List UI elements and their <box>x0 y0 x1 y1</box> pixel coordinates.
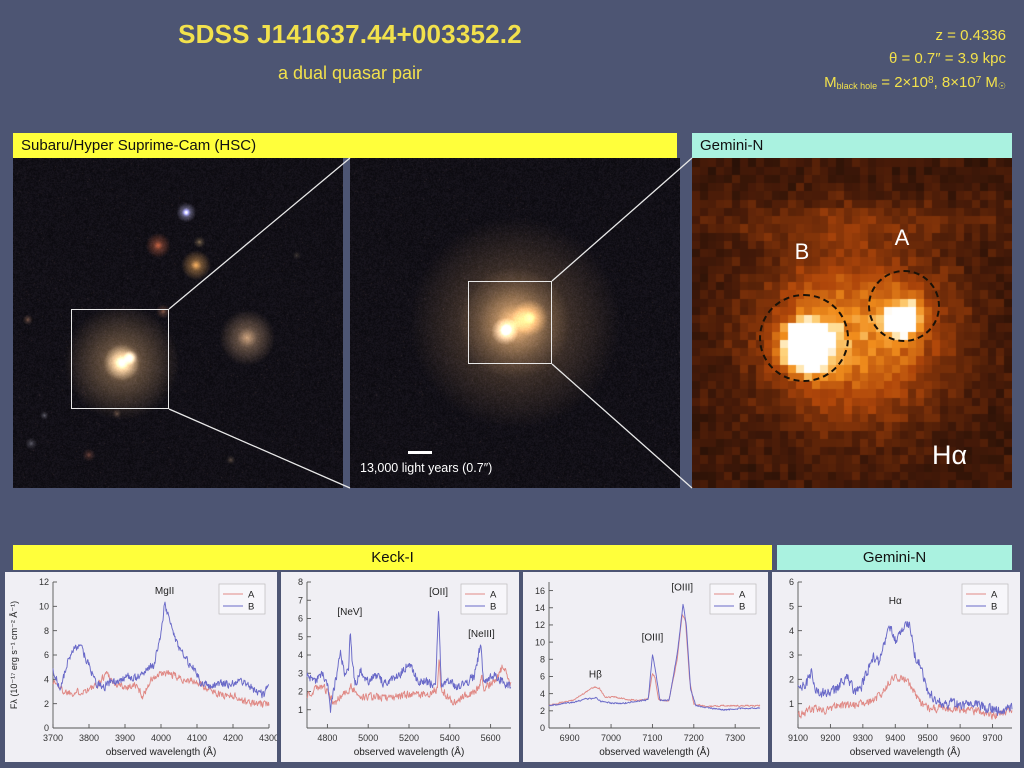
spectrum-plot: 690070007100720073000246810121416[OIII][… <box>523 572 768 762</box>
x-tick-label: 5000 <box>358 733 378 743</box>
x-axis-label: observed wavelength (Å) <box>354 745 465 758</box>
y-tick-label: 8 <box>298 577 303 587</box>
y-tick-label: 16 <box>535 586 545 596</box>
y-tick-label: 14 <box>535 603 545 613</box>
y-tick-label: 2 <box>789 675 794 685</box>
mass-unit: M <box>981 74 998 91</box>
y-tick-label: 12 <box>39 577 49 587</box>
spectrum-panel-hbeta-oiii: 690070007100720073000246810121416[OIII][… <box>523 572 768 762</box>
legend-label-a: A <box>739 589 746 600</box>
zoom-region-box-inner <box>468 281 552 364</box>
x-tick-label: 3900 <box>115 733 135 743</box>
x-tick-label: 4200 <box>223 733 243 743</box>
x-tick-label: 5400 <box>440 733 460 743</box>
zoom-region-box <box>71 309 169 409</box>
object-properties: z = 0.4336 θ = 0.7″ = 3.9 kpc Mblack hol… <box>824 24 1006 94</box>
banner-hsc: Subaru/Hyper Suprime-Cam (HSC) <box>13 133 677 158</box>
y-tick-label: 6 <box>298 614 303 624</box>
page-subtitle: a dual quasar pair <box>0 63 700 84</box>
y-tick-label: 2 <box>298 687 303 697</box>
source-label-a: A <box>895 225 910 251</box>
y-tick-label: 12 <box>535 620 545 630</box>
black-hole-mass-value: Mblack hole = 2×108, 8×107 M☉ <box>824 71 1006 94</box>
emission-line-annotation: [OIII] <box>671 583 693 594</box>
y-tick-label: 4 <box>44 675 49 685</box>
y-tick-label: 4 <box>298 650 303 660</box>
legend-label-a: A <box>490 589 497 600</box>
x-tick-label: 6900 <box>560 733 580 743</box>
title-block: SDSS J141637.44+003352.2 a dual quasar p… <box>0 20 700 84</box>
x-tick-label: 4300 <box>259 733 277 743</box>
hsc-zoom-image: 13,000 light years (0.7″) <box>350 158 680 488</box>
y-tick-label: 6 <box>540 672 545 682</box>
redshift-value: z = 0.4336 <box>824 24 1006 47</box>
x-tick-label: 4100 <box>187 733 207 743</box>
emission-line-annotation: Hβ <box>589 669 602 680</box>
hsc-wide-field-image <box>13 158 343 488</box>
gemini-canvas <box>692 158 1012 488</box>
mass-middle: , 8×10 <box>934 74 976 91</box>
hscwide-canvas <box>13 158 343 488</box>
y-tick-label: 8 <box>44 626 49 636</box>
legend-label-a: A <box>248 589 255 600</box>
y-tick-label: 0 <box>44 723 49 733</box>
y-tick-label: 4 <box>789 626 794 636</box>
emission-line-label-ha: Hα <box>932 440 967 471</box>
legend-box <box>219 584 265 614</box>
x-tick-label: 9600 <box>950 733 970 743</box>
x-tick-label: 3700 <box>43 733 63 743</box>
y-tick-label: 7 <box>298 595 303 605</box>
scale-bar-label: 13,000 light years (0.7″) <box>360 461 492 475</box>
y-tick-label: 0 <box>540 723 545 733</box>
x-tick-label: 3800 <box>79 733 99 743</box>
mass-symbol: M <box>824 74 837 91</box>
banner-gemini-spectra: Gemini-N <box>777 545 1012 570</box>
legend-box <box>461 584 507 614</box>
y-tick-label: 6 <box>789 577 794 587</box>
x-tick-label: 9700 <box>983 733 1003 743</box>
legend-label-b: B <box>248 601 254 612</box>
emission-line-annotation: [OII] <box>429 587 448 598</box>
y-tick-label: 1 <box>789 699 794 709</box>
legend-label-b: B <box>739 601 745 612</box>
spectrum-plot: 4800500052005400560012345678[NeV][OII][N… <box>281 572 519 762</box>
legend-label-b: B <box>490 601 496 612</box>
x-tick-label: 5600 <box>481 733 501 743</box>
legend-label-b: B <box>991 601 997 612</box>
legend-box <box>710 584 756 614</box>
aperture-circle-b <box>759 294 849 382</box>
x-axis-label: observed wavelength (Å) <box>106 745 217 758</box>
x-axis-label: observed wavelength (Å) <box>850 745 961 758</box>
spectrum-panel-mgii: 3700380039004000410042004300024681012MgI… <box>5 572 277 762</box>
y-tick-label: 6 <box>44 650 49 660</box>
x-tick-label: 4000 <box>151 733 171 743</box>
legend-label-a: A <box>991 589 998 600</box>
x-tick-label: 9300 <box>853 733 873 743</box>
y-tick-label: 3 <box>298 668 303 678</box>
x-tick-label: 9100 <box>788 733 808 743</box>
y-tick-label: 5 <box>789 602 794 612</box>
y-tick-label: 8 <box>540 654 545 664</box>
separation-value: θ = 0.7″ = 3.9 kpc <box>824 47 1006 70</box>
banner-gemini-image: Gemini-N <box>692 133 1012 158</box>
solar-mass-icon: ☉ <box>998 81 1006 91</box>
y-axis-label: Fλ (10⁻¹⁷ erg s⁻¹ cm⁻² Å⁻¹) <box>9 601 19 709</box>
page-title: SDSS J141637.44+003352.2 <box>0 20 700 49</box>
y-tick-label: 10 <box>535 637 545 647</box>
x-tick-label: 5200 <box>399 733 419 743</box>
y-tick-label: 2 <box>44 699 49 709</box>
banner-keck-spectra: Keck-I <box>13 545 772 570</box>
gemini-halpha-image: ABHα <box>692 158 1012 488</box>
y-tick-label: 5 <box>298 632 303 642</box>
spectrum-plot: 3700380039004000410042004300024681012MgI… <box>5 572 277 762</box>
x-tick-label: 7300 <box>725 733 745 743</box>
x-tick-label: 9400 <box>885 733 905 743</box>
spectrum-panel-halpha: 9100920093009400950096009700123456HαABob… <box>772 572 1020 762</box>
y-tick-label: 4 <box>540 689 545 699</box>
x-tick-label: 9500 <box>918 733 938 743</box>
figure-root: SDSS J141637.44+003352.2 a dual quasar p… <box>0 0 1024 768</box>
y-tick-label: 3 <box>789 650 794 660</box>
x-tick-label: 9200 <box>820 733 840 743</box>
y-tick-label: 2 <box>540 706 545 716</box>
legend-box <box>962 584 1008 614</box>
x-axis-label: observed wavelength (Å) <box>599 745 710 758</box>
scale-bar <box>408 451 432 454</box>
source-label-b: B <box>795 239 810 265</box>
x-tick-label: 7000 <box>601 733 621 743</box>
emission-line-annotation: MgII <box>155 586 174 597</box>
aperture-circle-a <box>868 270 940 342</box>
y-tick-label: 10 <box>39 602 49 612</box>
y-tick-label: 1 <box>298 705 303 715</box>
emission-line-annotation: Hα <box>889 596 902 607</box>
mass-subscript: black hole <box>837 81 878 91</box>
emission-line-annotation: [NeIII] <box>468 629 495 640</box>
emission-line-annotation: [OIII] <box>642 632 664 643</box>
mass-equals: = 2×10 <box>877 74 928 91</box>
x-tick-label: 4800 <box>317 733 337 743</box>
x-tick-label: 7100 <box>642 733 662 743</box>
spectrum-plot: 9100920093009400950096009700123456HαABob… <box>772 572 1020 762</box>
emission-line-annotation: [NeV] <box>337 607 362 618</box>
x-tick-label: 7200 <box>684 733 704 743</box>
spectrum-panel-nev-oii-neiii: 4800500052005400560012345678[NeV][OII][N… <box>281 572 519 762</box>
